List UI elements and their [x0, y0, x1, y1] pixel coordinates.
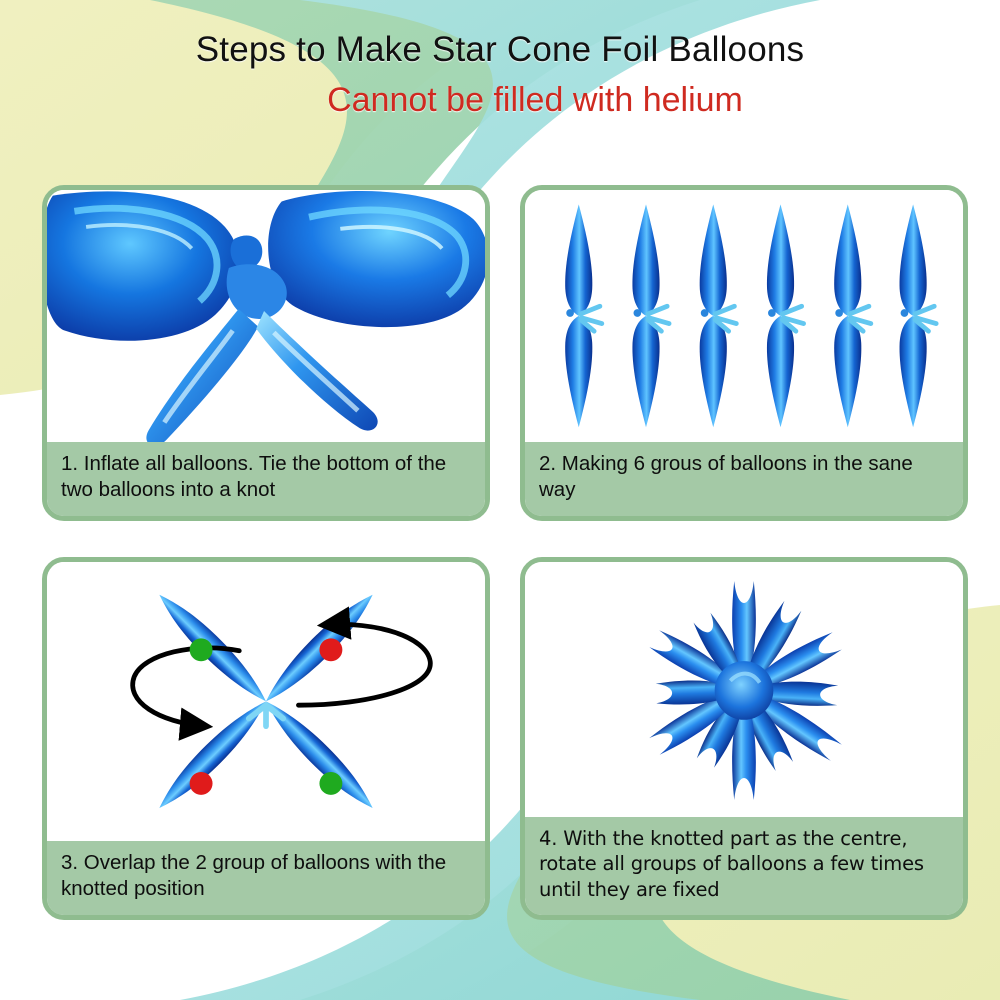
step-caption-2: 2. Making 6 grous of balloons in the san… [525, 442, 963, 516]
marker-green-lower-right [319, 772, 342, 795]
heading-block: Steps to Make Star Cone Foil Balloons Ca… [0, 30, 1000, 120]
figure-six-balloon-pairs-grid [525, 190, 963, 442]
marker-green-upper-left [190, 638, 213, 661]
step-card-3: 3. Overlap the 2 group of balloons with … [42, 557, 490, 920]
figure-x-overlap-with-rotation-arrows [47, 562, 485, 841]
page-title: Steps to Make Star Cone Foil Balloons [0, 30, 1000, 70]
step-card-4: 4. With the knotted part as the centre, … [520, 557, 968, 920]
page-subtitle-warning: Cannot be filled with helium [0, 81, 1000, 120]
step-caption-4: 4. With the knotted part as the centre, … [525, 817, 963, 915]
marker-red-upper-right [319, 638, 342, 661]
figure-two-knotted-foil-balloons [47, 190, 485, 442]
step-caption-1: 1. Inflate all balloons. Tie the bottom … [47, 442, 485, 516]
step-card-2: 2. Making 6 grous of balloons in the san… [520, 185, 968, 521]
marker-red-lower-left [190, 772, 213, 795]
steps-grid: 1. Inflate all balloons. Tie the bottom … [42, 185, 968, 920]
step-card-1: 1. Inflate all balloons. Tie the bottom … [42, 185, 490, 521]
figure-finished-star-burst-balloon [525, 562, 963, 817]
instruction-poster: Steps to Make Star Cone Foil Balloons Ca… [0, 0, 1000, 1000]
step-caption-3: 3. Overlap the 2 group of balloons with … [47, 841, 485, 915]
